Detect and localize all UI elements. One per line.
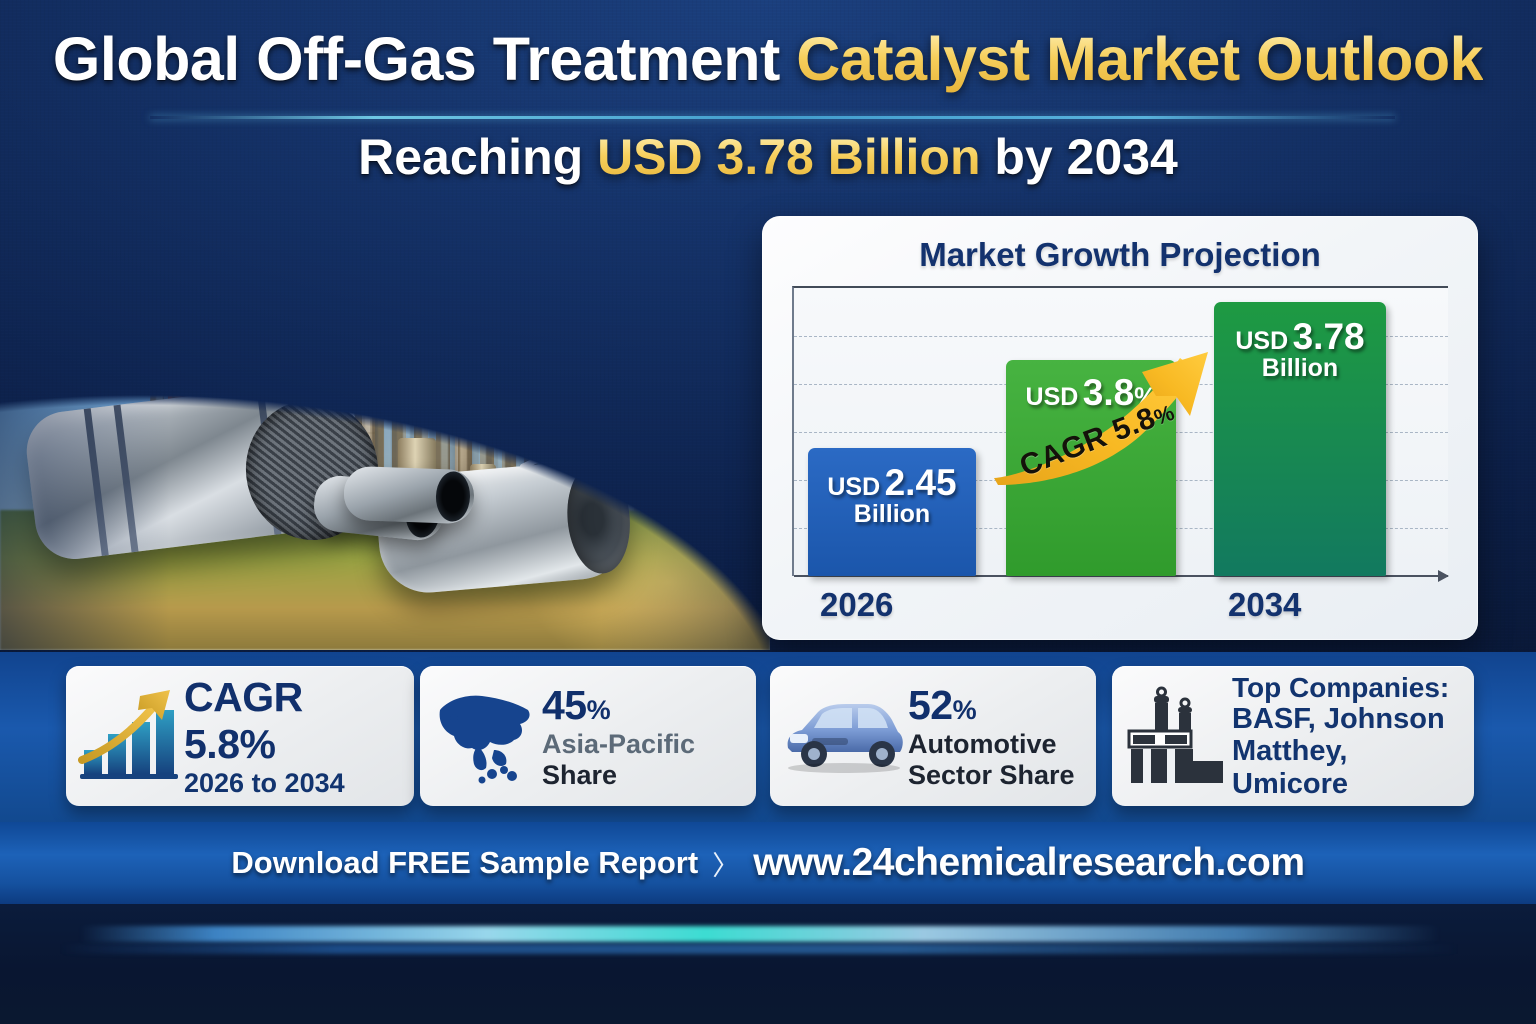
stat-asia-label-2: Share [542,760,746,790]
industrial-photo [0,150,770,650]
header: Global Off-Gas Treatment Catalyst Market… [0,0,1536,200]
stat-card-automotive-text: 52% Automotive Sector Share [908,682,1086,789]
bar-chart-growth-icon [76,688,184,784]
title-divider [150,116,1395,119]
x-tick-2026: 2026 [820,586,893,624]
photo-vignette [0,150,770,650]
page-title: Global Off-Gas Treatment Catalyst Market… [0,24,1536,94]
stat-auto-value: 52% [908,682,1086,729]
stat-auto-unit: % [953,695,977,725]
light-streak [80,926,1440,942]
title-part-gold: Catalyst Market Outlook [796,25,1483,93]
stat-companies-line-2: Matthey, Umicore [1232,735,1464,800]
chevron-right-icon: 〉 [712,844,739,883]
stat-card-automotive[interactable]: 52% Automotive Sector Share [770,666,1096,806]
bar-2026: USD 2.45 Billion [808,448,976,576]
stat-auto-label-2: Sector Share [908,760,1086,790]
stat-auto-number: 52 [908,682,953,728]
title-part-white: Global Off-Gas Treatment [53,25,796,93]
bar-label-prefix: USD [1235,327,1288,355]
factory-icon [1122,683,1232,789]
asia-map-icon [430,680,542,792]
cagr-arrow: CAGR 5.8% [990,350,1240,485]
market-growth-chart-card: Market Growth Projection USD 2.45 Billio… [762,216,1478,640]
stat-cagr-value: CAGR 5.8% [184,674,404,768]
stat-asia-value: 45% [542,682,746,729]
stat-asia-unit: % [587,695,611,725]
stat-card-asia-pacific[interactable]: 45% Asia-Pacific Share [420,666,756,806]
car-icon [780,698,908,774]
light-streak-secondary [60,944,1460,954]
stat-companies-heading: Top Companies: [1232,672,1464,703]
chart-title: Market Growth Projection [762,236,1478,274]
x-tick-2034: 2034 [1228,586,1301,624]
page-subtitle: Reaching USD 3.78 Billion by 2034 [0,128,1536,186]
footer-cta-text: Download FREE Sample Report [231,845,698,881]
infographic-root: Global Off-Gas Treatment Catalyst Market… [0,0,1536,1024]
subtitle-part-a: Reaching [358,129,597,185]
bar-label-prefix: USD [827,473,880,501]
bar-label-value: 3.78 [1293,316,1365,357]
stat-cards-row: CAGR 5.8% 2026 to 2034 [0,652,1536,822]
stat-cagr-period: 2026 to 2034 [184,768,404,798]
bar-label-value: 2.45 [885,462,957,503]
stat-card-cagr-text: CAGR 5.8% 2026 to 2034 [184,674,404,798]
stat-companies-line-1: BASF, Johnson [1232,703,1464,735]
chart-plot-area: USD 2.45 Billion USD 3.8% USD 3.78 Billi… [792,286,1448,576]
stat-card-top-companies[interactable]: Top Companies: BASF, Johnson Matthey, Um… [1112,666,1474,806]
subtitle-value: USD 3.78 Billion [597,129,980,185]
stat-auto-label-1: Automotive [908,729,1086,759]
stat-card-asia-text: 45% Asia-Pacific Share [542,682,746,789]
footer-cta-bar[interactable]: Download FREE Sample Report 〉 www.24chem… [0,822,1536,904]
footer-url[interactable]: www.24chemicalresearch.com [753,841,1304,885]
stat-asia-number: 45 [542,682,587,728]
bar-label-suffix: Billion [808,502,976,528]
bottom-band [0,904,1536,1024]
subtitle-part-b: by 2034 [981,129,1178,185]
stat-card-cagr[interactable]: CAGR 5.8% 2026 to 2034 [66,666,414,806]
stat-asia-label-1: Asia-Pacific [542,729,746,759]
stat-card-companies-text: Top Companies: BASF, Johnson Matthey, Um… [1232,672,1464,801]
